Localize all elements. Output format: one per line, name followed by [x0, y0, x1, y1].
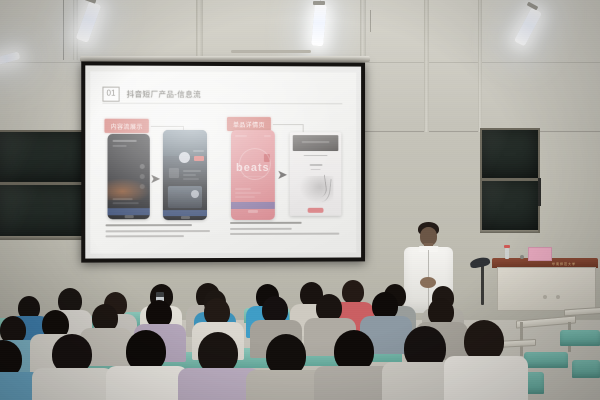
projection-screen: 01 抖音短厂产品-信息流 内容流展示: [85, 65, 361, 258]
phone-mock-4: [290, 132, 342, 216]
left-caption: [105, 224, 214, 241]
wall-pillar-c: [73, 0, 78, 60]
wall-pillar-a: [424, 0, 429, 132]
right-connector: [273, 124, 303, 125]
wall-pillar-b: [478, 0, 482, 132]
podium-sign: [528, 247, 552, 261]
phone-mock-2: [163, 130, 207, 220]
student-body-f2: [32, 368, 114, 400]
podium-engraving: 华南师范大学: [552, 262, 576, 266]
slide-title-row: 01 抖音短厂产品-信息流: [102, 87, 201, 102]
chalkboard-left-top: [0, 130, 88, 184]
left-connector: [151, 126, 183, 127]
student-body-f8: [444, 356, 528, 400]
projection-screen-frame: 01 抖音短厂产品-信息流 内容流展示: [81, 61, 365, 262]
phone-mock-1: [108, 134, 150, 219]
lecture-hall-photo: 01 抖音短厂产品-信息流 内容流展示: [0, 0, 600, 400]
slide-title: 抖音短厂产品-信息流: [127, 89, 201, 100]
chalkboard-left-bottom: [0, 183, 88, 239]
podium-body: [497, 267, 596, 311]
ceiling-beam-mid: [360, 0, 366, 60]
light-rod-1: [63, 0, 64, 60]
right-caption: [230, 222, 341, 239]
empty-seat-3: [572, 360, 600, 378]
board-bracket: [538, 178, 541, 206]
podium-knob: [520, 255, 524, 259]
phone-mock-3: beats: [231, 130, 275, 220]
chalk-rail-right: [480, 230, 538, 233]
left-section-tag: 内容流展示: [104, 119, 148, 133]
flow-arrow-2: ➤: [277, 168, 288, 181]
student-body-f3: [106, 366, 188, 400]
podium-cup: [505, 248, 509, 259]
student-head-b9: [342, 280, 364, 304]
ceiling-pipe: [231, 50, 311, 53]
presenter-hands: [420, 277, 436, 288]
podium-cup-lid: [504, 245, 510, 248]
water-bottle-cap: [156, 292, 164, 297]
hanging-wire: [370, 10, 371, 32]
podium-handle-left: [543, 295, 547, 299]
chalkboard-right-bottom: [480, 179, 540, 233]
right-section-tag: 单品详情页: [227, 117, 271, 131]
presentation-slide: 01 抖音短厂产品-信息流 内容流展示: [90, 71, 356, 253]
slide-number-badge: 01: [102, 87, 119, 102]
mic-stand: [481, 265, 484, 305]
light-cap-2: [313, 1, 325, 5]
chalkboard-right-top: [480, 128, 540, 180]
empty-seat-2: [524, 352, 568, 368]
chalk-rail-left: [0, 236, 86, 240]
ceiling-beam-left: [196, 0, 203, 62]
slide-title-rule: [102, 103, 342, 105]
empty-seat-1: [560, 330, 600, 346]
podium-handle-right: [556, 295, 560, 299]
flow-arrow-1: ➤: [150, 172, 161, 185]
